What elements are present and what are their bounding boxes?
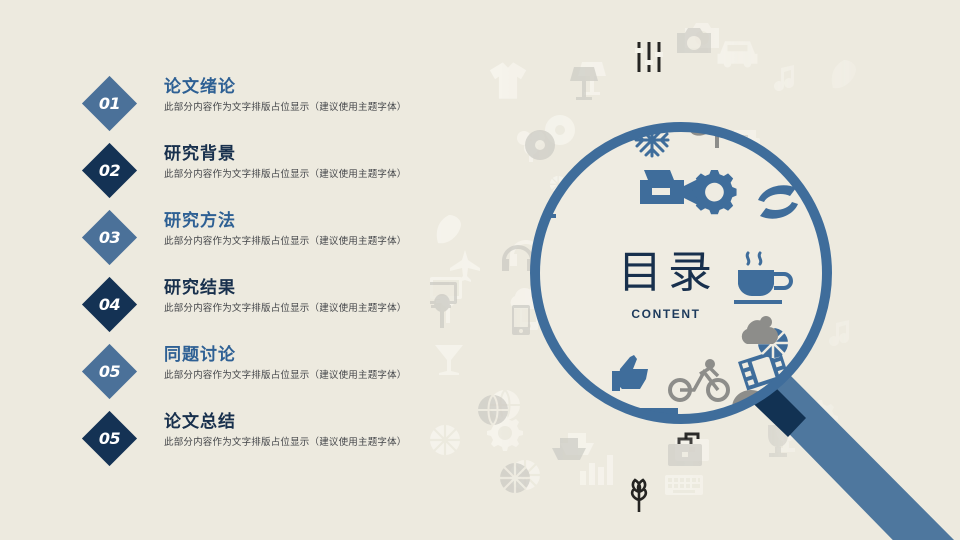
agenda-number-3: 03 xyxy=(90,218,129,257)
agenda-number-1: 01 xyxy=(90,84,129,123)
agenda-text-1: 论文绪论 此部分内容作为文字排版占位显示（建议使用主题字体） xyxy=(164,76,484,115)
agenda-item-2[interactable]: 02 研究背景 此部分内容作为文字排版占位显示（建议使用主题字体） xyxy=(78,143,478,210)
agenda-desc-5: 此部分内容作为文字排版占位显示（建议使用主题字体） xyxy=(164,369,484,383)
agenda-desc-3: 此部分内容作为文字排版占位显示（建议使用主题字体） xyxy=(164,235,484,249)
agenda-item-1[interactable]: 01 论文绪论 此部分内容作为文字排版占位显示（建议使用主题字体） xyxy=(78,76,478,143)
lens-subtitle: CONTENT xyxy=(565,307,765,321)
agenda-desc-4: 此部分内容作为文字排版占位显示（建议使用主题字体） xyxy=(164,302,484,316)
agenda-desc-2: 此部分内容作为文字排版占位显示（建议使用主题字体） xyxy=(164,168,484,182)
diamond-badge-2: 02 xyxy=(82,143,137,198)
snowflake-icon xyxy=(636,124,668,156)
funnel-icon xyxy=(548,382,592,416)
mortar-pestle-icon xyxy=(506,290,540,338)
presentation-slide: 01 论文绪论 此部分内容作为文字排版占位显示（建议使用主题字体） 02 研究背… xyxy=(0,0,960,540)
agenda-item-5[interactable]: 05 同题讨论 此部分内容作为文字排版占位显示（建议使用主题字体） xyxy=(78,344,478,411)
diamond-badge-1: 01 xyxy=(82,76,137,131)
agenda-text-6: 论文总结 此部分内容作为文字排版占位显示（建议使用主题字体） xyxy=(164,411,484,450)
agenda-text-2: 研究背景 此部分内容作为文字排版占位显示（建议使用主题字体） xyxy=(164,143,484,182)
diamond-badge-4: 04 xyxy=(82,277,137,332)
agenda-number-2: 02 xyxy=(90,151,129,190)
diamond-badge-5: 05 xyxy=(82,344,137,399)
agenda-text-5: 同题讨论 此部分内容作为文字排版占位显示（建议使用主题字体） xyxy=(164,344,484,383)
agenda-title-3: 研究方法 xyxy=(164,210,484,232)
magnifier-handle xyxy=(755,370,960,540)
agenda-list: 01 论文绪论 此部分内容作为文字排版占位显示（建议使用主题字体） 02 研究背… xyxy=(78,76,478,478)
agenda-number-5: 05 xyxy=(90,352,129,391)
agenda-number-4: 04 xyxy=(90,285,129,324)
video-camera-icon xyxy=(640,170,700,206)
film-strip-icon xyxy=(738,348,789,390)
agenda-item-6[interactable]: 05 论文总结 此部分内容作为文字排版占位显示（建议使用主题字体） xyxy=(78,411,478,478)
agenda-title-1: 论文绪论 xyxy=(164,76,484,98)
briefcase-icon xyxy=(634,408,678,436)
agenda-item-4[interactable]: 04 研究结果 此部分内容作为文字排版占位显示（建议使用主题字体） xyxy=(78,277,478,344)
agenda-desc-6: 此部分内容作为文字排版占位显示（建议使用主题字体） xyxy=(164,436,484,450)
bicycle-icon xyxy=(670,359,728,400)
agenda-item-3[interactable]: 03 研究方法 此部分内容作为文字排版占位显示（建议使用主题字体） xyxy=(78,210,478,277)
umbrella-icon xyxy=(732,390,770,425)
agenda-text-4: 研究结果 此部分内容作为文字排版占位显示（建议使用主题字体） xyxy=(164,277,484,316)
diamond-badge-6: 05 xyxy=(82,411,137,466)
basketball-icon xyxy=(758,328,788,358)
recycle-icon xyxy=(758,185,798,218)
leaf-small-icon xyxy=(551,152,574,180)
microphone-icon xyxy=(540,182,558,218)
agenda-number-6: 05 xyxy=(90,419,129,458)
agenda-title-6: 论文总结 xyxy=(164,411,484,433)
magnifier-collar xyxy=(737,368,806,437)
agenda-title-5: 同题讨论 xyxy=(164,344,484,366)
music-note-icon xyxy=(529,128,552,158)
agenda-desc-1: 此部分内容作为文字排版占位显示（建议使用主题字体） xyxy=(164,101,484,115)
lens-title: 目录 xyxy=(565,248,765,298)
agenda-text-3: 研究方法 此部分内容作为文字排版占位显示（建议使用主题字体） xyxy=(164,210,484,249)
thumbs-up-icon xyxy=(612,355,648,391)
leaf-fan-icon xyxy=(687,113,748,148)
agenda-title-4: 研究结果 xyxy=(164,277,484,299)
agenda-title-2: 研究背景 xyxy=(164,143,484,165)
diamond-badge-3: 03 xyxy=(82,210,137,265)
gear-icon xyxy=(692,170,736,214)
gear-small-icon xyxy=(492,243,539,290)
lens-text-block: 目录 CONTENT xyxy=(565,248,765,321)
paint-roller-icon xyxy=(492,352,530,396)
